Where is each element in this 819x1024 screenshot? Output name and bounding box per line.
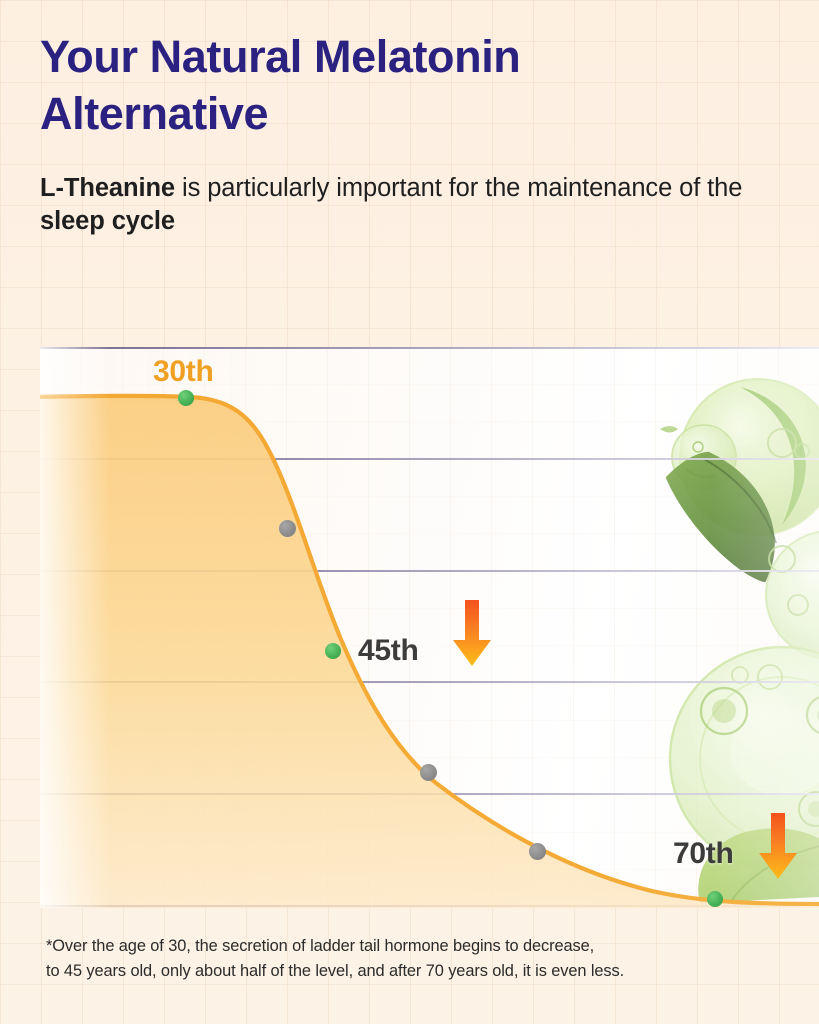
marker-point-5 [529,843,546,860]
label-age-45: 45th [358,634,419,668]
area-edge-fade [40,347,819,908]
down-arrow-icon-45 [452,600,492,668]
header-block: Your Natural Melatonin Alternative L-The… [40,28,770,238]
marker-age-70 [707,891,723,907]
chart-footnote: *Over the age of 30, the secretion of la… [46,934,786,984]
decline-curve [40,347,819,908]
marker-age-45 [325,643,341,659]
marker-point-2 [279,520,296,537]
label-age-30: 30th [153,355,214,389]
label-age-70: 70th [673,837,734,871]
marker-point-4 [420,764,437,781]
subtitle-highlight-ingredient: L-Theanine [40,174,175,202]
subtitle-highlight-sleepcycle: sleep cycle [40,207,175,235]
melatonin-decline-chart: 30th 45th 70th [40,347,819,908]
page-title: Your Natural Melatonin Alternative [40,28,770,142]
subtitle-body-text: is particularly important for the mainte… [175,174,742,202]
marker-age-30 [178,390,194,406]
page-subtitle: L-Theanine is particularly important for… [40,142,770,238]
down-arrow-icon-70 [758,813,798,881]
